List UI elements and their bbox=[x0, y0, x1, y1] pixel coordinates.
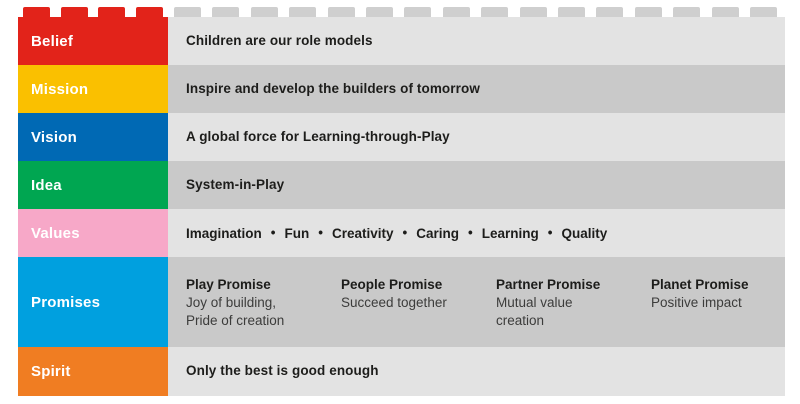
promise-description: Mutual value creation bbox=[496, 294, 651, 329]
brick-label: Vision bbox=[31, 129, 77, 146]
statement-text: Only the best is good enough bbox=[186, 363, 379, 379]
promise-column: Planet PromisePositive impact bbox=[651, 277, 800, 312]
bullet-separator-icon: • bbox=[403, 226, 408, 240]
promise-column: Partner PromiseMutual value creation bbox=[496, 277, 651, 330]
brick-label: Idea bbox=[31, 177, 62, 194]
statement-text: System-in-Play bbox=[186, 177, 284, 193]
statement-row-vision: A global force for Learning-through-Play bbox=[168, 113, 785, 161]
value-item: Caring bbox=[416, 226, 459, 241]
brick-values: Values bbox=[18, 209, 168, 257]
bullet-separator-icon: • bbox=[468, 226, 473, 240]
brick-label: Promises bbox=[31, 294, 100, 311]
brick-belief: Belief bbox=[18, 17, 168, 65]
brick-idea: Idea bbox=[18, 161, 168, 209]
brand-framework-diagram: Children are our role modelsInspire and … bbox=[0, 0, 800, 404]
brick-label: Mission bbox=[31, 81, 88, 98]
statement-row-promises: Play PromiseJoy of building, Pride of cr… bbox=[168, 257, 785, 347]
brick-mission: Mission bbox=[18, 65, 168, 113]
statement-row-belief: Children are our role models bbox=[168, 17, 785, 65]
promise-title: Planet Promise bbox=[651, 277, 800, 294]
statement-text: A global force for Learning-through-Play bbox=[186, 129, 450, 145]
promise-description: Succeed together bbox=[341, 294, 496, 312]
promise-description: Joy of building, Pride of creation bbox=[186, 294, 341, 329]
brick-label: Spirit bbox=[31, 363, 71, 380]
promise-column: People PromiseSucceed together bbox=[341, 277, 496, 312]
statement-panel: Children are our role modelsInspire and … bbox=[168, 17, 785, 396]
promises-grid: Play PromiseJoy of building, Pride of cr… bbox=[186, 275, 785, 330]
statement-text: Children are our role models bbox=[186, 33, 373, 49]
values-list: Imagination•Fun•Creativity•Caring•Learni… bbox=[186, 226, 607, 241]
lego-stud-strip bbox=[0, 0, 800, 18]
statement-row-values: Imagination•Fun•Creativity•Caring•Learni… bbox=[168, 209, 785, 257]
value-item: Fun bbox=[285, 226, 310, 241]
statement-row-mission: Inspire and develop the builders of tomo… bbox=[168, 65, 785, 113]
statement-row-idea: System-in-Play bbox=[168, 161, 785, 209]
brick-promises: Promises bbox=[18, 257, 168, 347]
category-brick-column: BeliefMissionVisionIdeaValuesPromisesSpi… bbox=[18, 17, 168, 396]
promise-description: Positive impact bbox=[651, 294, 800, 312]
bullet-separator-icon: • bbox=[318, 226, 323, 240]
bullet-separator-icon: • bbox=[548, 226, 553, 240]
statement-text: Inspire and develop the builders of tomo… bbox=[186, 81, 480, 97]
promise-column: Play PromiseJoy of building, Pride of cr… bbox=[186, 277, 341, 330]
value-item: Imagination bbox=[186, 226, 262, 241]
value-item: Learning bbox=[482, 226, 539, 241]
value-item: Quality bbox=[562, 226, 608, 241]
promise-title: Play Promise bbox=[186, 277, 341, 294]
promise-title: People Promise bbox=[341, 277, 496, 294]
brick-spirit: Spirit bbox=[18, 347, 168, 396]
promise-title: Partner Promise bbox=[496, 277, 651, 294]
value-item: Creativity bbox=[332, 226, 394, 241]
brick-label: Belief bbox=[31, 33, 73, 50]
bullet-separator-icon: • bbox=[271, 226, 276, 240]
statement-row-spirit: Only the best is good enough bbox=[168, 347, 785, 396]
brick-vision: Vision bbox=[18, 113, 168, 161]
brick-label: Values bbox=[31, 225, 80, 242]
